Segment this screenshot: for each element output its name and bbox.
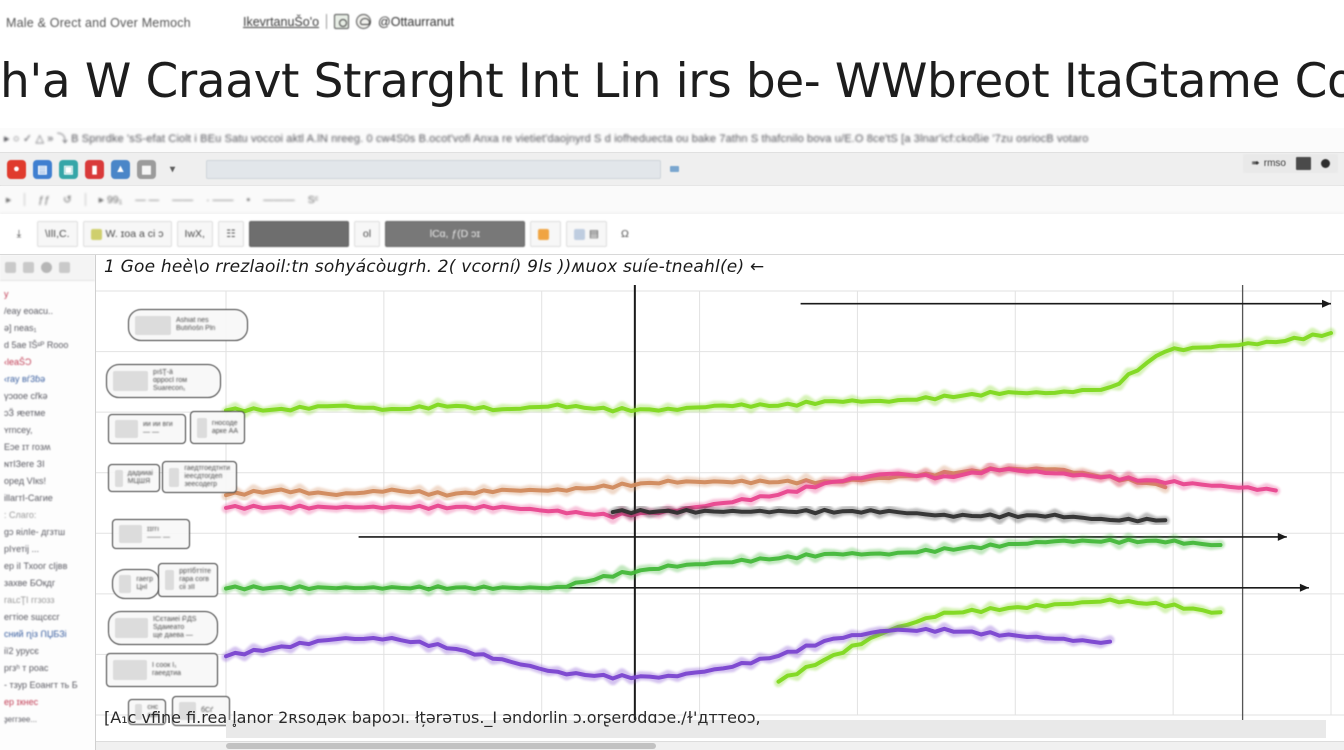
chart-label-7[interactable]: ɪɪггı—— — bbox=[112, 519, 190, 549]
browser-toolbar: ●▤▣▮▲▦▾ bbox=[0, 152, 1344, 186]
tb2-item-5[interactable]: —— bbox=[172, 194, 193, 206]
chart-label-1-line: Ashiat nes bbox=[176, 317, 215, 325]
app-icon-document-glyph: ▤ bbox=[33, 160, 52, 179]
screenshot-root: Male & Orect and Over Memoch IkevrtanuŠo… bbox=[0, 0, 1344, 750]
list-icon[interactable] bbox=[23, 262, 34, 273]
chart-label-9-line: сіі зІІ bbox=[179, 584, 211, 592]
app-icon-bookmark[interactable]: ▮ bbox=[85, 160, 104, 179]
header-nav: IkevrtanuŠo'o @Ottaurranut bbox=[243, 14, 454, 29]
tb-btn-orange-chip bbox=[538, 229, 549, 240]
chart-label-10[interactable]: ІСєтаиеі ԲДЅЅдаиеатоще даева — bbox=[108, 611, 218, 645]
chart-label-2-line: ɑрросІ гом bbox=[153, 377, 187, 385]
chart-label-7-text: ɪɪггı—— — bbox=[147, 526, 170, 542]
arrow-low-head bbox=[1300, 584, 1309, 592]
tb2-item-6[interactable]: · —— bbox=[206, 194, 233, 206]
chart-label-10-text: ІСєтаиеі ԲДЅЅдаиеатоще даева — bbox=[153, 616, 196, 640]
chart-caption-top: 1 Goe heè\o rrezlaoil:tn sohyácòugrh. 2(… bbox=[104, 257, 1344, 285]
arrow-top-head bbox=[1322, 300, 1331, 308]
tb2-item-2[interactable]: ↺ bbox=[63, 194, 72, 206]
chart-label-6-line: зеесодегр bbox=[184, 481, 230, 489]
chart-svg bbox=[96, 285, 1344, 725]
scrollbar-thumb[interactable] bbox=[226, 743, 656, 749]
tb-btn-orange[interactable] bbox=[530, 221, 561, 247]
tb-btn-worksheet[interactable]: W. ɪoa a ci ɔ bbox=[83, 221, 172, 247]
chart-label-6-text: гаедтгоедтнтиіеесдтогдепзеесодегр bbox=[184, 465, 230, 489]
sidebar-item-14[interactable]: gɔ ʀілІе- дгзтш bbox=[2, 524, 95, 541]
tb-btn-sel1[interactable] bbox=[249, 221, 349, 247]
tb-btn-vlllc[interactable]: \IlI,C. bbox=[37, 221, 78, 247]
chart-label-1-text: Ashiat nesButiñošn Pln bbox=[176, 317, 215, 333]
chart-label-9-swatch bbox=[165, 570, 174, 590]
chart-label-6[interactable]: гаедтгоедтнтиіеесдтогдепзеесодегр bbox=[162, 461, 237, 493]
app-icon-cloud[interactable]: ▲ bbox=[111, 160, 130, 179]
tb-btn-sel2-label: lCɑ, ƒ(D ɔɪ bbox=[430, 228, 480, 240]
app-icon-window[interactable]: ▣ bbox=[59, 160, 78, 179]
chart-label-2-swatch bbox=[113, 371, 148, 391]
tb2-item-7[interactable]: • bbox=[247, 194, 251, 206]
tb-btn-worksheet-label: W. ɪoa a ci ɔ bbox=[106, 228, 164, 240]
sidebar-item-24[interactable]: ер ɪкнес bbox=[2, 694, 95, 711]
sidebar-item-22[interactable]: ргзʰ т роас bbox=[2, 660, 95, 677]
series-lime-top-halo bbox=[226, 332, 1331, 414]
sidebar-item-15[interactable]: рІʏетіј ... bbox=[2, 541, 95, 558]
sidebar-item-8[interactable]: ʏrncey, bbox=[2, 422, 95, 439]
tb-btn-vlllc-label: \IlI,C. bbox=[45, 228, 70, 240]
sidebar-item-7[interactable]: ɔӞ ԙетме bbox=[2, 405, 95, 422]
sidebar-item-6[interactable]: γɔɑoе cřkə bbox=[2, 388, 95, 405]
header-nav-link-1[interactable]: IkevrtanuŠo'o bbox=[243, 15, 319, 29]
secondary-toolbar: ▸ƒƒ↺▸ 99₁— ———· ——•———Sᶜ bbox=[0, 186, 1344, 214]
chart-label-8-line: гаегр bbox=[136, 576, 153, 584]
tb2-item-4[interactable]: — — bbox=[135, 194, 159, 206]
chart-caption-bottom: [A₁c vfine fi.rea l̥anor 2ʀѕодəк bapoɔı.… bbox=[104, 708, 1344, 732]
chart-label-4-text: гносодеарке АА bbox=[212, 420, 238, 436]
chart-label-9-line: гара согв bbox=[179, 576, 211, 584]
chart-label-8-swatch bbox=[119, 575, 131, 593]
series-green-mid-halo bbox=[226, 537, 1221, 591]
tb2-item-0[interactable]: ▸ bbox=[6, 194, 11, 206]
chart-label-2-line: pıšŢ-ä bbox=[153, 369, 187, 377]
url-input[interactable] bbox=[206, 160, 661, 179]
sidebar-list: y/eay eoacu..ə] neas₁d 5ae ĭŠᶝᴾ Rooо‹leа… bbox=[0, 281, 95, 728]
panel-icon[interactable] bbox=[1296, 157, 1311, 170]
sidebar-item-0[interactable]: y bbox=[2, 286, 95, 303]
app-icon-cloud-glyph: ▲ bbox=[111, 160, 130, 179]
chart-label-4[interactable]: гносодеарке АА bbox=[190, 411, 245, 444]
sidebar-item-2[interactable]: ə] neas₁ bbox=[2, 320, 95, 337]
chart-label-5-line: дадииаі bbox=[128, 470, 153, 478]
chart-label-11[interactable]: І соок І₁гаеедтиа bbox=[106, 653, 218, 687]
tb-btn-ol-label: ol bbox=[363, 228, 371, 240]
chart-label-11-line: І соок І₁ bbox=[152, 662, 181, 670]
arrow-mid-head bbox=[1278, 533, 1287, 541]
chart-label-3[interactable]: ии ии вги— — bbox=[108, 414, 186, 444]
sidebar-item-17[interactable]: захве БОкдг bbox=[2, 575, 95, 592]
chart-label-3-text: ии ии вги— — bbox=[143, 421, 173, 437]
sidebar-item-21[interactable]: ії2 урусє bbox=[2, 643, 95, 660]
chrome-right-label[interactable]: ➠ rmso bbox=[1251, 158, 1286, 169]
chart-label-2-line: Suarecon₁ bbox=[153, 385, 187, 393]
horizontal-scrollbar[interactable] bbox=[96, 741, 1344, 750]
cursor-icon: ➠ bbox=[1251, 158, 1259, 169]
chart-label-7-line: —— — bbox=[147, 534, 170, 542]
chrome-right-tools: ➠ rmso bbox=[1243, 154, 1338, 173]
browser-chrome: ▸ ○ ✓ △ » ⤵ B Spnrdke 'sS-efat Ciolt i B… bbox=[0, 128, 1344, 255]
chart-label-1-line: Butiñošn Pln bbox=[176, 325, 215, 333]
chart-label-9-text: рртІбттітегара согвсіі зІІ bbox=[179, 568, 211, 592]
tb2-item-3[interactable]: ▸ 99₁ bbox=[99, 194, 122, 206]
chart-panel: 1 Goe heè\o rrezlaoil:tn sohyácòugrh. 2(… bbox=[96, 255, 1344, 750]
tb-btn-grid-label: ☷ bbox=[226, 228, 235, 240]
cloud-icon[interactable] bbox=[356, 14, 371, 29]
sidebar-item-5[interactable]: ‹ray ʙѓ3ɓə bbox=[2, 371, 95, 388]
chart-label-6-line: гаедтгоедтнти bbox=[184, 465, 230, 473]
tb2-item-8[interactable]: ——— bbox=[263, 194, 295, 206]
tb-btn-mark[interactable]: IwX, bbox=[177, 221, 213, 247]
tb2-item-9[interactable]: Sᶜ bbox=[308, 194, 319, 206]
sidebar-item-4[interactable]: ‹leаŠƆ bbox=[2, 354, 95, 371]
app-icon-gray-glyph: ▦ bbox=[137, 160, 156, 179]
app-icon-window-glyph: ▣ bbox=[59, 160, 78, 179]
chevron-down-glyph: ▾ bbox=[163, 160, 182, 179]
sidebar-item-9[interactable]: Eɔе ɪт гозʍ bbox=[2, 439, 95, 456]
tb-btn-worksheet-chip bbox=[91, 229, 102, 240]
sidebar-item-12[interactable]: іllагтІ-Cагие bbox=[2, 490, 95, 507]
tb-btn-omega[interactable]: Ω bbox=[612, 221, 638, 247]
tb-btn-grid[interactable]: ☷ bbox=[218, 221, 244, 247]
chart-label-6-swatch bbox=[169, 468, 179, 487]
chart-label-3-line: ии ии вги bbox=[143, 421, 173, 429]
sidebar-item-23[interactable]: - тзур Еоангт ть Б bbox=[2, 677, 95, 694]
page-header: Male & Orect and Over Memoch IkevrtanuŠo… bbox=[0, 0, 1344, 130]
chart-label-4-swatch bbox=[197, 418, 207, 438]
globe-icon[interactable] bbox=[41, 262, 52, 273]
chart-label-2[interactable]: pıšŢ-äɑрросІ гомSuarecon₁ bbox=[106, 364, 221, 398]
app-icon-shield[interactable]: ● bbox=[7, 160, 26, 179]
tb-btn-blue-label: ▤ bbox=[589, 228, 599, 240]
outline-sidebar[interactable]: y/eay eoacu..ə] neas₁d 5ae ĭŠᶝᴾ Rooо‹leа… bbox=[0, 255, 96, 750]
sidebar-item-16[interactable]: ер іІ Тхоог сІјвв bbox=[2, 558, 95, 575]
app-icon-bookmark-glyph: ▮ bbox=[85, 160, 104, 179]
series-lime-top-line bbox=[226, 333, 1331, 411]
sidebar-item-1[interactable]: /eay eoacu.. bbox=[2, 303, 95, 320]
nav-divider bbox=[326, 14, 327, 29]
series-green-mid[interactable] bbox=[226, 537, 1221, 591]
tb-btn-anchor[interactable]: ⤓ bbox=[6, 221, 32, 247]
series-black[interactable] bbox=[613, 508, 1166, 524]
chart-label-2-text: pıšŢ-äɑрросІ гомSuarecon₁ bbox=[153, 369, 187, 393]
series-purple[interactable] bbox=[226, 627, 1110, 681]
chart-label-7-swatch bbox=[119, 525, 142, 543]
app-toolbar: ⤓\IlI,C.W. ɪoa a ci ɔIwX,☷ollCɑ, ƒ(D ɔɪ▤… bbox=[0, 214, 1344, 254]
chart-label-1-swatch bbox=[135, 316, 171, 335]
chart-label-7-line: ɪɪггı bbox=[147, 526, 170, 534]
sidebar-item-3[interactable]: d 5ae ĭŠᶝᴾ Rooо bbox=[2, 337, 95, 354]
tb2-separator bbox=[24, 193, 25, 206]
tb2-item-1[interactable]: ƒƒ bbox=[38, 194, 50, 206]
app-icon-gray[interactable]: ▦ bbox=[137, 160, 156, 179]
sidebar-item-11[interactable]: оред VІкѕ! bbox=[2, 473, 95, 490]
tb2-separator bbox=[85, 193, 86, 206]
chart-label-3-swatch bbox=[115, 420, 138, 438]
chart-plot-area[interactable] bbox=[96, 285, 1344, 725]
series-lime-top[interactable] bbox=[226, 332, 1331, 414]
more-icon[interactable] bbox=[59, 262, 70, 273]
sidebar-item-18[interactable]: гаւсŢІ ггзозз bbox=[2, 592, 95, 609]
sidebar-item-25[interactable]: ҙеггзее... bbox=[2, 711, 95, 728]
chevron-down-icon[interactable]: ▾ bbox=[163, 160, 182, 179]
sidebar-item-19[interactable]: егтіое ѕщсєсг bbox=[2, 609, 95, 626]
chart-label-4-line: гносоде bbox=[212, 420, 238, 428]
chart-label-5-swatch bbox=[115, 470, 123, 487]
chart-series bbox=[226, 332, 1331, 682]
chart-label-11-line: гаеедтиа bbox=[152, 670, 181, 678]
sidebar-item-10[interactable]: ɴтІЗеге ЗІ bbox=[2, 456, 95, 473]
chart-label-1[interactable]: Ashiat nesButiñošn Pln bbox=[128, 309, 248, 341]
sidebar-item-13[interactable]: : Слаго: bbox=[2, 507, 95, 524]
tb-btn-mark-label: IwX, bbox=[185, 228, 205, 240]
camera-icon[interactable] bbox=[334, 14, 349, 29]
chart-label-8-text: гаегрЦнІ bbox=[136, 576, 153, 592]
tb-btn-ol[interactable]: ol bbox=[354, 221, 380, 247]
page-title: h'a W Craavt Strarght Int Lin irs be- WW… bbox=[0, 52, 1320, 114]
chart-label-10-line: ще даева — bbox=[153, 632, 196, 640]
chart-label-8-line: ЦнІ bbox=[136, 584, 153, 592]
meta-row: Male & Orect and Over Memoch IkevrtanuŠo… bbox=[0, 14, 1344, 38]
header-nav-link-2[interactable]: @Ottaurranut bbox=[378, 15, 454, 29]
chart-label-9[interactable]: рртІбттітегара согвсіі зІІ bbox=[158, 563, 218, 597]
url-go-icon[interactable] bbox=[670, 166, 679, 172]
tb-btn-sel2[interactable]: lCɑ, ƒ(D ɔɪ bbox=[385, 221, 525, 247]
tb-btn-omega-label: Ω bbox=[621, 228, 629, 240]
chart-label-10-line: Ѕдаиеато bbox=[153, 624, 196, 632]
menu-icon[interactable] bbox=[5, 262, 16, 273]
chart-label-11-text: І соок І₁гаеедтиа bbox=[152, 662, 181, 678]
sidebar-item-20[interactable]: сний ղіз ՈЏБЗі bbox=[2, 626, 95, 643]
chart-label-6-line: іеесдтогдеп bbox=[184, 473, 230, 481]
chrome-status-line: ▸ ○ ✓ △ » ⤵ B Spnrdke 'sS-efat Ciolt i B… bbox=[0, 128, 1344, 152]
chart-label-5[interactable]: дадииаіМЦШЯ bbox=[108, 464, 160, 492]
chart-label-5-line: МЦШЯ bbox=[128, 478, 153, 486]
chart-label-11-swatch bbox=[113, 660, 147, 680]
app-icon-document[interactable]: ▤ bbox=[33, 160, 52, 179]
chrome-right-text: rmso bbox=[1264, 158, 1286, 169]
chart-label-5-text: дадииаіМЦШЯ bbox=[128, 470, 153, 486]
sidebar-toolbar bbox=[0, 255, 95, 281]
dot-icon[interactable] bbox=[1321, 159, 1330, 168]
breadcrumb: Male & Orect and Over Memoch bbox=[6, 16, 191, 30]
chart-label-3-line: — — bbox=[143, 429, 173, 437]
chart-label-9-line: рртІбттіте bbox=[179, 568, 211, 576]
app-icon-shield-glyph: ● bbox=[7, 160, 26, 179]
tb-btn-blue[interactable]: ▤ bbox=[566, 221, 607, 247]
tb-btn-anchor-label: ⤓ bbox=[17, 228, 22, 241]
chart-label-10-swatch bbox=[115, 618, 148, 638]
chart-label-4-line: арке АА bbox=[212, 428, 238, 436]
chart-label-10-line: ІСєтаиеі ԲДЅ bbox=[153, 616, 196, 624]
tb-btn-blue-chip bbox=[574, 229, 585, 240]
chart-label-8[interactable]: гаегрЦнІ bbox=[112, 569, 160, 599]
